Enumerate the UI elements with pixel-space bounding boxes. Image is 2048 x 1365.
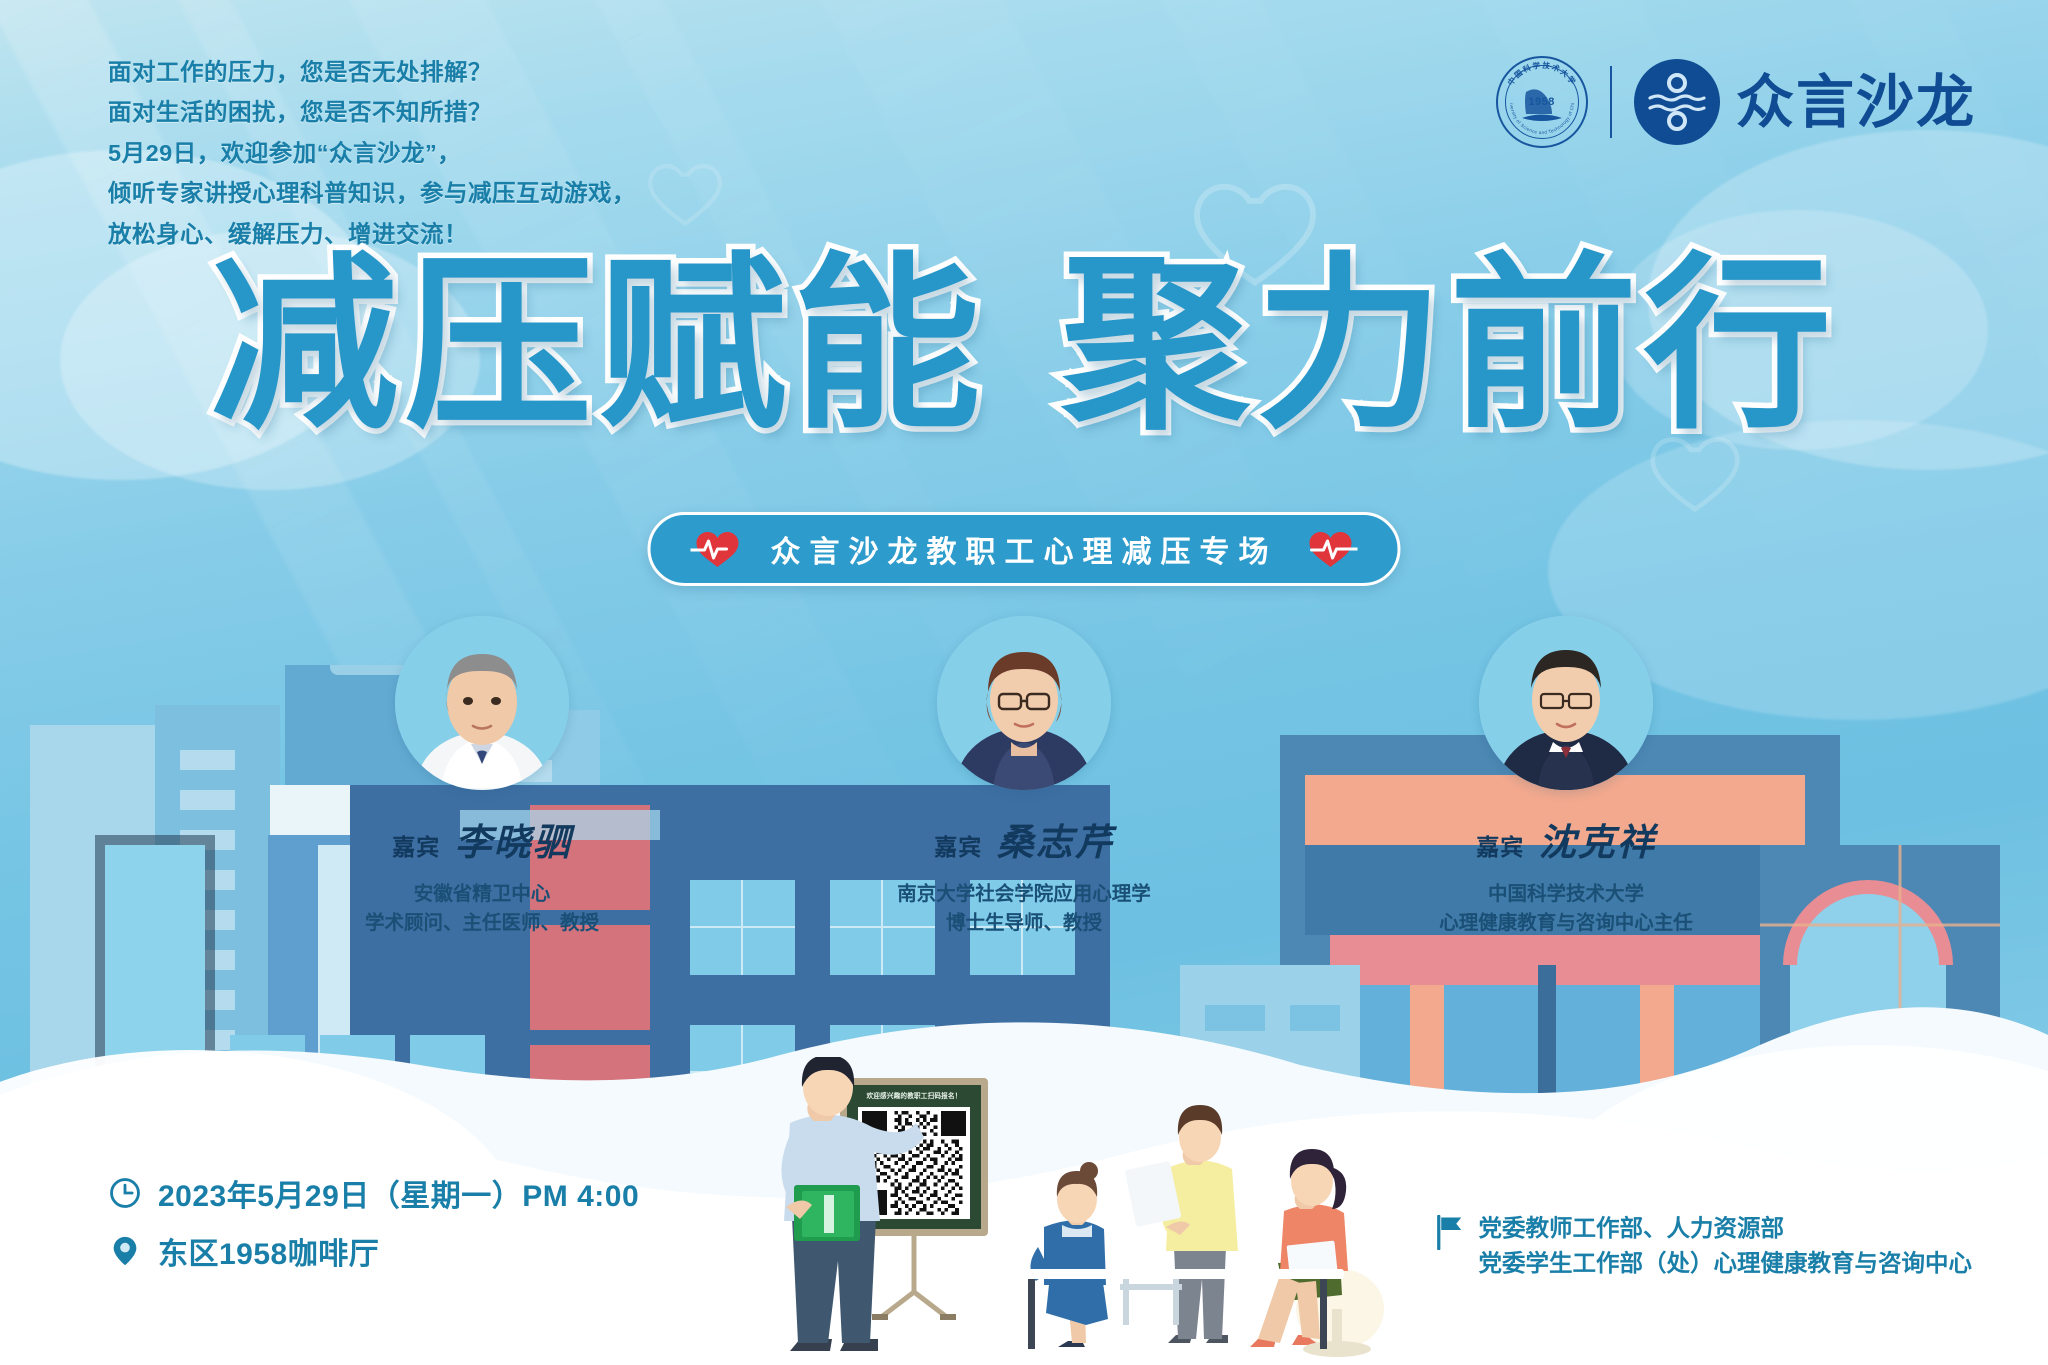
intro-line: 面对生活的困扰，您是否不知所措？ xyxy=(108,96,748,128)
affiliation-line: 安徽省精卫中心 xyxy=(332,880,632,909)
guest-name-row: 嘉宾 沈克祥 xyxy=(1416,812,1716,866)
guest-name-row: 嘉宾 桑志芹 xyxy=(874,812,1174,866)
guest-label: 嘉宾 xyxy=(1476,834,1524,860)
person-with-books-illustration xyxy=(742,1057,932,1357)
intro-line: 5月29日，欢迎参加“众言沙龙”， xyxy=(108,137,748,169)
logo-divider xyxy=(1610,66,1612,138)
heart-pulse-icon xyxy=(691,529,745,569)
salon-circle-icon xyxy=(1634,59,1720,145)
intro-line: 面对工作的压力，您是否无处排解？ xyxy=(108,56,748,88)
guest-list: 嘉宾 李晓驷 安徽省精卫中心 学术顾问、主任医师、教授 xyxy=(0,616,2048,939)
logo-lockup: 中国科学技术大学 University of Science and Techn… xyxy=(1496,56,1976,148)
svg-text:中国科学技术大学: 中国科学技术大学 xyxy=(1505,60,1579,87)
affiliation-line: 心理健康教育与咨询中心主任 xyxy=(1416,909,1716,938)
title-part-1: 减压赋能 xyxy=(211,252,987,440)
intro-line: 倾听专家讲授心理科普知识，参与减压互动游戏， xyxy=(108,177,748,209)
event-location: 东区1958咖啡厅 xyxy=(158,1229,379,1273)
affiliation-line: 学术顾问、主任医师、教授 xyxy=(332,909,632,938)
organizers: 党委教师工作部、人力资源部 党委学生工作部（处）心理健康教育与咨询中心 xyxy=(1435,1211,1973,1281)
subtitle-text: 众言沙龙教职工心理减压专场 xyxy=(771,527,1278,571)
brand-name: 众言沙龙 xyxy=(1736,73,1976,131)
guest-name-row: 嘉宾 李晓驷 xyxy=(332,812,632,866)
chair xyxy=(1120,1279,1182,1325)
guest-name: 李晓驷 xyxy=(455,821,572,864)
event-location-row: 东区1958咖啡厅 xyxy=(108,1229,639,1273)
avatar xyxy=(1479,616,1653,790)
person-seated-blue xyxy=(1030,1162,1108,1347)
guest-affiliation: 安徽省精卫中心 学术顾问、主任医师、教授 xyxy=(332,880,632,939)
guest-affiliation: 中国科学技术大学 心理健康教育与咨询中心主任 xyxy=(1416,880,1716,939)
affiliation-line: 博士生导师、教授 xyxy=(874,909,1174,938)
guest-card: 嘉宾 李晓驷 安徽省精卫中心 学术顾问、主任医师、教授 xyxy=(332,616,632,939)
avatar xyxy=(937,616,1111,790)
guest-affiliation: 南京大学社会学院应用心理学 博士生导师、教授 xyxy=(874,880,1174,939)
guest-name: 沈克祥 xyxy=(1539,821,1656,864)
title-part-2: 聚力前行 xyxy=(1061,252,1837,440)
heart-pulse-icon xyxy=(1304,529,1358,569)
map-pin-icon xyxy=(108,1234,142,1268)
clock-icon xyxy=(108,1176,142,1210)
event-time: 2023年5月29日（星期一）PM 4:00 xyxy=(158,1171,639,1215)
intro-text-block: 面对工作的压力，您是否无处排解？ 面对生活的困扰，您是否不知所措？ 5月29日，… xyxy=(108,56,748,258)
avatar xyxy=(395,616,569,790)
poster-canvas: 面对工作的压力，您是否无处排解？ 面对生活的困扰，您是否不知所措？ 5月29日，… xyxy=(0,0,2048,1365)
organizer-line: 党委学生工作部（处）心理健康教育与咨询中心 xyxy=(1479,1246,1973,1281)
guest-name: 桑志芹 xyxy=(997,821,1114,864)
organizer-line: 党委教师工作部、人力资源部 xyxy=(1479,1211,1973,1246)
affiliation-line: 南京大学社会学院应用心理学 xyxy=(874,880,1174,909)
affiliation-line: 中国科学技术大学 xyxy=(1416,880,1716,909)
seal-year: 1958 xyxy=(1496,96,1588,108)
people-meeting-illustration xyxy=(980,1047,1440,1357)
guest-label: 嘉宾 xyxy=(392,834,440,860)
flag-icon xyxy=(1435,1215,1465,1249)
guest-card: 嘉宾 桑志芹 南京大学社会学院应用心理学 博士生导师、教授 xyxy=(874,616,1174,939)
person-standing-yellow xyxy=(1124,1105,1238,1343)
event-details: 2023年5月29日（星期一）PM 4:00 东区1958咖啡厅 xyxy=(108,1171,639,1287)
person-seated-orange xyxy=(1250,1149,1384,1357)
guest-card: 嘉宾 沈克祥 中国科学技术大学 心理健康教育与咨询中心主任 xyxy=(1416,616,1716,939)
subtitle-ribbon: 众言沙龙教职工心理减压专场 xyxy=(648,512,1401,586)
ustc-seal-icon: 中国科学技术大学 University of Science and Techn… xyxy=(1496,56,1588,148)
guest-label: 嘉宾 xyxy=(934,834,982,860)
event-time-row: 2023年5月29日（星期一）PM 4:00 xyxy=(108,1171,639,1215)
page-title: 减压赋能 聚力前行 xyxy=(0,252,2048,440)
